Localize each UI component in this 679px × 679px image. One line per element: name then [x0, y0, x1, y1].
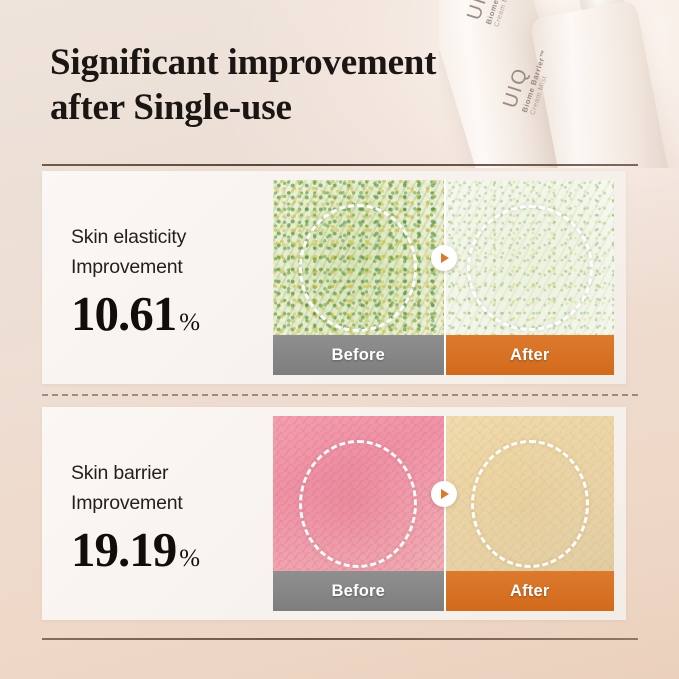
bottle-product-name-line2: Cream Mist — [493, 0, 521, 28]
bottle-product-name-line2-2: Cream Mist — [529, 51, 557, 116]
result-card-skin-barrier: Skin barrier Improvement 19.19 % Before … — [42, 407, 626, 620]
page-title-line-1: Significant improvement — [50, 40, 520, 85]
highlight-circle-before — [299, 440, 417, 568]
card-separator-dotted — [42, 394, 638, 396]
arrow-triangle-glyph — [441, 253, 449, 263]
metric-value-row: 19.19 % — [71, 525, 276, 574]
metric-unit: % — [179, 545, 200, 573]
after-label-bar: After — [446, 571, 615, 611]
page-title-line-2: after Single-use — [50, 85, 520, 130]
arrow-right-icon — [431, 481, 457, 507]
top-divider-rule — [42, 164, 638, 166]
product-bottle-front — [529, 0, 677, 168]
bottle-brand-text: UIQ — [463, 0, 505, 23]
card-text-block: Skin elasticity Improvement 10.61 % — [71, 223, 276, 338]
metric-title-line-2: Improvement — [71, 253, 276, 283]
before-label-bar: Before — [273, 335, 444, 375]
highlight-circle-after — [467, 205, 593, 331]
bottle-label-group-upper: UIQ Biome Barrier™ Cream Mist — [463, 0, 521, 28]
bottle-product-name-line1-2: Biome Barrier™ — [521, 49, 549, 114]
before-after-comparison: Before After — [273, 416, 614, 611]
after-pane: After — [444, 416, 615, 611]
highlight-circle-before — [299, 204, 417, 332]
product-bottle-cap — [573, 0, 630, 42]
metric-value: 19.19 — [71, 525, 176, 574]
bottle-product-name-line1: Biome Barrier™ — [485, 0, 513, 26]
card-text-block: Skin barrier Improvement 19.19 % — [71, 459, 276, 574]
metric-title-line-1: Skin elasticity — [71, 223, 276, 253]
metric-value-row: 10.61 % — [71, 289, 276, 338]
after-label-bar: After — [446, 335, 615, 375]
arrow-right-icon — [431, 245, 457, 271]
result-card-skin-elasticity: Skin elasticity Improvement 10.61 % Befo… — [42, 171, 626, 384]
bottom-divider-rule — [42, 638, 638, 640]
before-after-comparison: Before After — [273, 180, 614, 375]
metric-title-line-2: Improvement — [71, 489, 276, 519]
before-pane: Before — [273, 416, 444, 611]
metric-title-line-1: Skin barrier — [71, 459, 276, 489]
metric-value: 10.61 — [71, 289, 176, 338]
page-title: Significant improvement after Single-use — [50, 40, 520, 130]
before-label-bar: Before — [273, 571, 444, 611]
arrow-triangle-glyph — [441, 489, 449, 499]
highlight-circle-after — [471, 440, 589, 568]
before-pane: Before — [273, 180, 444, 375]
after-pane: After — [444, 180, 615, 375]
metric-unit: % — [179, 309, 200, 337]
